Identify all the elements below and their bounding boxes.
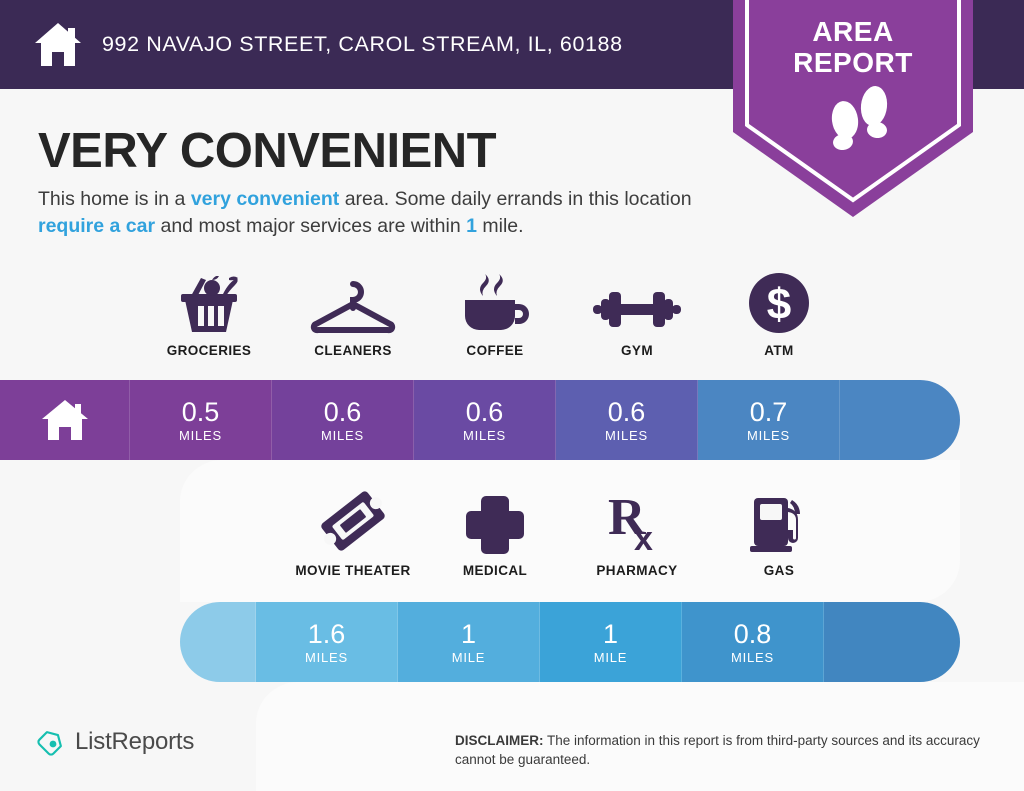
medical-cross-icon [424, 492, 566, 554]
distance-cell-medical: 1 MILE [398, 602, 540, 682]
listreports-house-icon [36, 727, 66, 757]
badge-title-line2: REPORT [733, 47, 973, 78]
clothes-hanger-icon [282, 272, 424, 334]
distance-value: 1.6 [308, 620, 346, 649]
amenity-label: ATM [708, 343, 850, 358]
listreports-logo: ListReports [36, 727, 194, 757]
gas-pump-icon [708, 492, 850, 554]
atm-dollar-icon: $ [708, 272, 850, 334]
summary-text: This home is in a very convenient area. … [38, 186, 728, 240]
summary-highlight-2: require a car [38, 215, 155, 237]
distance-cell-cleaners: 0.6 MILES [272, 380, 414, 460]
distance-unit: MILES [179, 428, 222, 443]
amenity-groceries: GROCERIES [138, 272, 280, 372]
amenity-label: MOVIE THEATER [282, 563, 424, 578]
groceries-basket-icon [138, 272, 280, 334]
distance-cell-gym: 0.6 MILES [556, 380, 698, 460]
distance-cell-movie-theater: 1.6 MILES [256, 602, 398, 682]
distance-value: 0.6 [608, 398, 646, 427]
amenity-label: GYM [566, 343, 708, 358]
svg-text:x: x [634, 520, 653, 554]
amenity-label: MEDICAL [424, 563, 566, 578]
amenity-gym: GYM [566, 272, 708, 372]
distance-unit: MILES [321, 428, 364, 443]
amenity-movie-theater: MOVIE THEATER [282, 492, 424, 592]
distance-cell-coffee: 0.6 MILES [414, 380, 556, 460]
distance-value: 0.7 [750, 398, 788, 427]
amenity-label: PHARMACY [566, 563, 708, 578]
badge-title-line1: AREA [733, 16, 973, 47]
distance-value: 0.6 [466, 398, 504, 427]
amenity-icon-row-2: MOVIE THEATER MEDICAL R x PHARMACY [272, 492, 842, 592]
summary-part-4: mile. [477, 215, 524, 237]
distance-cell-pharmacy: 1 MILE [540, 602, 682, 682]
bar-row-2-tail [824, 602, 960, 682]
distance-value: 0.5 [182, 398, 220, 427]
summary-highlight-1: very convenient [191, 188, 339, 210]
distance-unit: MILES [305, 650, 348, 665]
distance-value: 1 [603, 620, 618, 649]
summary-part-1: This home is in a [38, 188, 191, 210]
coffee-cup-icon [424, 272, 566, 334]
distance-unit: MILE [452, 650, 486, 665]
pharmacy-rx-icon: R x [566, 492, 708, 554]
bar-row-2-lead [180, 602, 256, 682]
distance-value: 1 [461, 620, 476, 649]
svg-text:$: $ [767, 280, 791, 329]
amenity-atm: $ ATM [708, 272, 850, 372]
amenity-coffee: COFFEE [424, 272, 566, 372]
distance-bar-row-2: 1.6 MILES 1 MILE 1 MILE 0.8 MILES [180, 602, 960, 682]
amenity-gas: GAS [708, 492, 850, 592]
page-title: VERY CONVENIENT [38, 123, 496, 179]
amenity-cleaners: CLEANERS [282, 272, 424, 372]
area-report-infographic: 992 NAVAJO STREET, CAROL STREAM, IL, 601… [0, 0, 1024, 791]
distance-unit: MILE [594, 650, 628, 665]
distance-value: 0.6 [324, 398, 362, 427]
home-marker-cell [0, 380, 130, 460]
home-icon [37, 398, 93, 442]
bar-row-1-tail [840, 380, 960, 460]
distance-unit: MILES [731, 650, 774, 665]
home-icon [33, 21, 83, 68]
disclaimer: DISCLAIMER: The information in this repo… [455, 731, 1000, 769]
distance-cell-atm: 0.7 MILES [698, 380, 840, 460]
distance-value: 0.8 [734, 620, 772, 649]
summary-part-3: and most major services are within [155, 215, 466, 237]
amenity-label: GAS [708, 563, 850, 578]
distance-unit: MILES [463, 428, 506, 443]
amenity-icon-row-1: GROCERIES CLEANERS [130, 272, 840, 372]
amenity-label: CLEANERS [282, 343, 424, 358]
summary-part-2: area. Some daily errands in this locatio… [339, 188, 691, 210]
distance-unit: MILES [605, 428, 648, 443]
property-address: 992 NAVAJO STREET, CAROL STREAM, IL, 601… [102, 32, 623, 57]
amenity-label: GROCERIES [138, 343, 280, 358]
area-report-badge: AREA REPORT [733, 0, 973, 217]
badge-title: AREA REPORT [733, 16, 973, 79]
amenity-label: COFFEE [424, 343, 566, 358]
movie-ticket-icon [282, 492, 424, 554]
amenity-medical: MEDICAL [424, 492, 566, 592]
disclaimer-label: DISCLAIMER: [455, 733, 544, 748]
dumbbell-icon [566, 272, 708, 334]
logo-text: ListReports [75, 728, 194, 756]
distance-unit: MILES [747, 428, 790, 443]
distance-bar-row-1: 0.5 MILES 0.6 MILES 0.6 MILES 0.6 MILES … [0, 380, 960, 460]
distance-cell-groceries: 0.5 MILES [130, 380, 272, 460]
summary-highlight-3: 1 [466, 215, 477, 237]
amenity-pharmacy: R x PHARMACY [566, 492, 708, 592]
distance-cell-gas: 0.8 MILES [682, 602, 824, 682]
